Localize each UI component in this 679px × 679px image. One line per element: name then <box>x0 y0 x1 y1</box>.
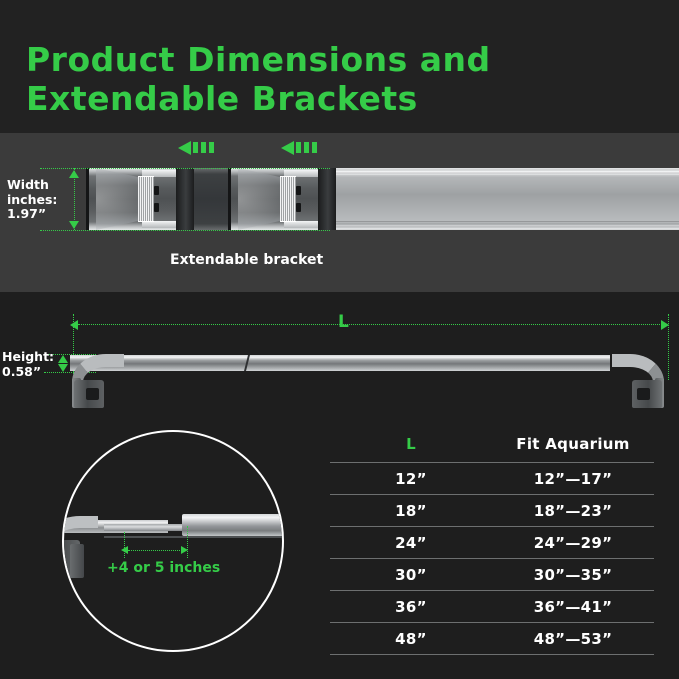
cell-length: 48” <box>330 623 492 654</box>
length-dim-line <box>78 324 664 325</box>
height-arrow-up-icon <box>58 355 68 363</box>
size-table: L Fit Aquarium 12” 12”—17” 18” 18”—23” 2… <box>330 428 654 655</box>
inset-arrow-left-icon <box>121 546 128 554</box>
table-header-row: L Fit Aquarium <box>330 428 654 462</box>
length-arrow-right-icon <box>661 320 669 330</box>
inset-slide-rod <box>104 524 190 531</box>
cell-length: 36” <box>330 591 492 622</box>
motion-arrow-left-icon <box>178 140 224 156</box>
inset-arrow-right-icon <box>181 546 188 554</box>
table-header-fit-aquarium: Fit Aquarium <box>492 428 654 462</box>
cell-fit: 30”—35” <box>492 559 654 590</box>
right-leg-bracket <box>612 354 664 408</box>
height-label: Height: 0.58” <box>2 350 54 379</box>
motion-arrow-right-icon <box>281 140 327 156</box>
table-row: 24” 24”—29” <box>330 527 654 558</box>
cell-length: 24” <box>330 527 492 558</box>
cell-fit: 18”—23” <box>492 495 654 526</box>
width-label: Width inches: 1.97” <box>7 178 57 222</box>
light-bar-side-profile <box>70 355 610 371</box>
width-arrow-down-icon <box>69 221 79 229</box>
length-arrow-left-icon <box>70 320 78 330</box>
table-row: 12” 12”—17” <box>330 463 654 494</box>
cell-fit: 24”—29” <box>492 527 654 558</box>
extendable-bracket-1 <box>86 168 176 230</box>
width-dim-line-top <box>40 168 330 169</box>
inset-leg-foot-secondary <box>70 544 84 578</box>
extendable-bracket-2 <box>228 168 318 230</box>
cell-fit: 48”—53” <box>492 623 654 654</box>
table-row: 36” 36”—41” <box>330 591 654 622</box>
bracket-gap-1 <box>176 168 194 230</box>
cell-length: 12” <box>330 463 492 494</box>
cell-fit: 36”—41” <box>492 591 654 622</box>
cell-fit: 12”—17” <box>492 463 654 494</box>
bracket-gap-2 <box>318 168 336 230</box>
inset-dim-line <box>128 550 184 551</box>
table-row: 30” 30”—35” <box>330 559 654 590</box>
inset-extension-label: +4 or 5 inches <box>107 560 220 576</box>
inset-tube-right <box>182 514 284 536</box>
top-view-diagram: Width inches: 1.97” Extendable bracket <box>0 133 679 292</box>
left-leg-bracket <box>72 354 124 408</box>
cell-length: 18” <box>330 495 492 526</box>
cell-length: 30” <box>330 559 492 590</box>
table-rule <box>330 654 654 655</box>
table-row: 48” 48”—53” <box>330 623 654 654</box>
table-header-length: L <box>330 428 492 462</box>
length-label: L <box>338 312 349 332</box>
table-row: 18” 18”—23” <box>330 495 654 526</box>
inset-dim-left-ext <box>124 532 125 558</box>
side-view-diagram: L Height: 0.58” <box>0 292 679 427</box>
infographic-page: Product Dimensions and Extendable Bracke… <box>0 0 679 679</box>
extension-detail-inset: +4 or 5 inches <box>62 430 284 652</box>
page-title: Product Dimensions and Extendable Bracke… <box>26 40 586 118</box>
width-arrow-up-icon <box>69 170 79 178</box>
extendable-bracket-caption: Extendable bracket <box>170 252 323 268</box>
height-arrow-down-icon <box>58 364 68 372</box>
inset-seam-line <box>104 536 284 538</box>
width-dim-line-bottom <box>40 230 330 231</box>
